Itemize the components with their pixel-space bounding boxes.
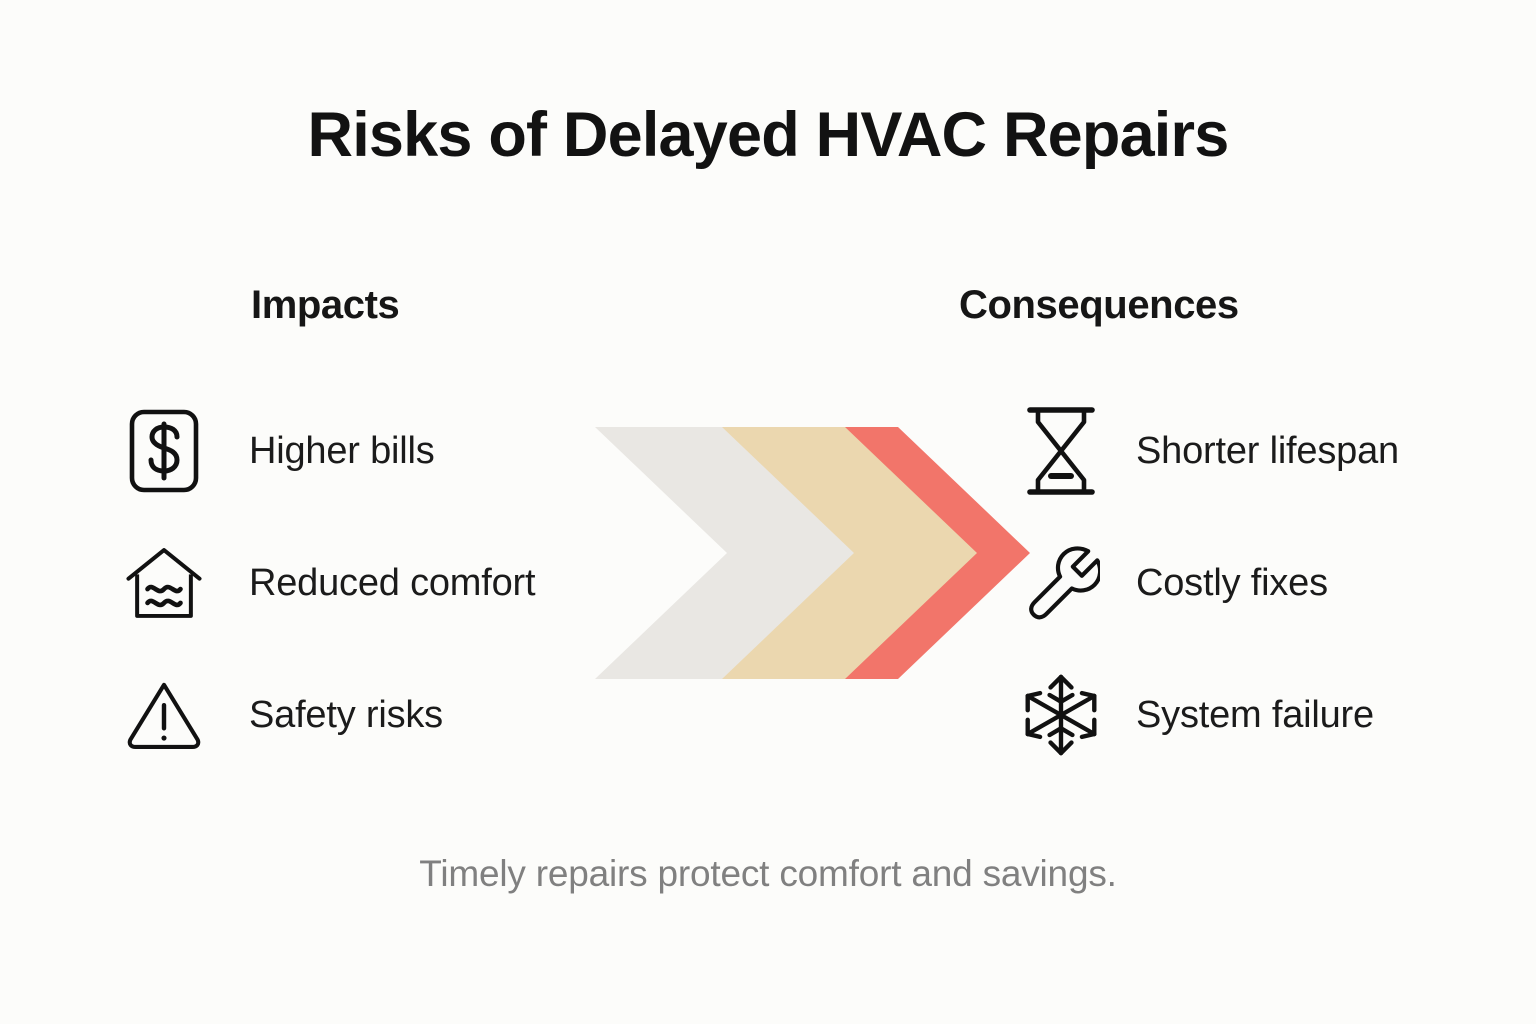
footer-caption: Timely repairs protect comfort and savin… [0,855,1536,892]
hourglass-icon [1022,406,1100,496]
list-item-label: Shorter lifespan [1136,432,1399,470]
snowflake-icon [1022,670,1100,760]
list-item-label: Costly fixes [1136,564,1328,602]
warning-triangle-icon [125,670,203,760]
list-item: Shorter lifespan [1022,403,1492,499]
list-item: System failure [1022,667,1492,763]
column-heading-consequences: Consequences [959,285,1239,325]
list-item-label: System failure [1136,696,1374,734]
list-item-label: Safety risks [249,696,443,734]
impacts-list: Higher bills Reduced comfort [125,403,545,763]
house-temperature-icon [125,538,203,628]
column-heading-impacts: Impacts [251,285,399,325]
list-item: Reduced comfort [125,535,545,631]
infographic-canvas: Risks of Delayed HVAC Repairs Impacts Co… [0,0,1536,1024]
wrench-icon [1022,538,1100,628]
consequences-list: Shorter lifespan Costly fixes [1022,403,1492,763]
list-item: Safety risks [125,667,545,763]
chevron-flow [560,420,1030,686]
page-title: Risks of Delayed HVAC Repairs [0,101,1536,170]
list-item-label: Reduced comfort [249,564,535,602]
list-item: Costly fixes [1022,535,1492,631]
list-item-label: Higher bills [249,432,435,470]
list-item: Higher bills [125,403,545,499]
money-bill-icon [125,406,203,496]
